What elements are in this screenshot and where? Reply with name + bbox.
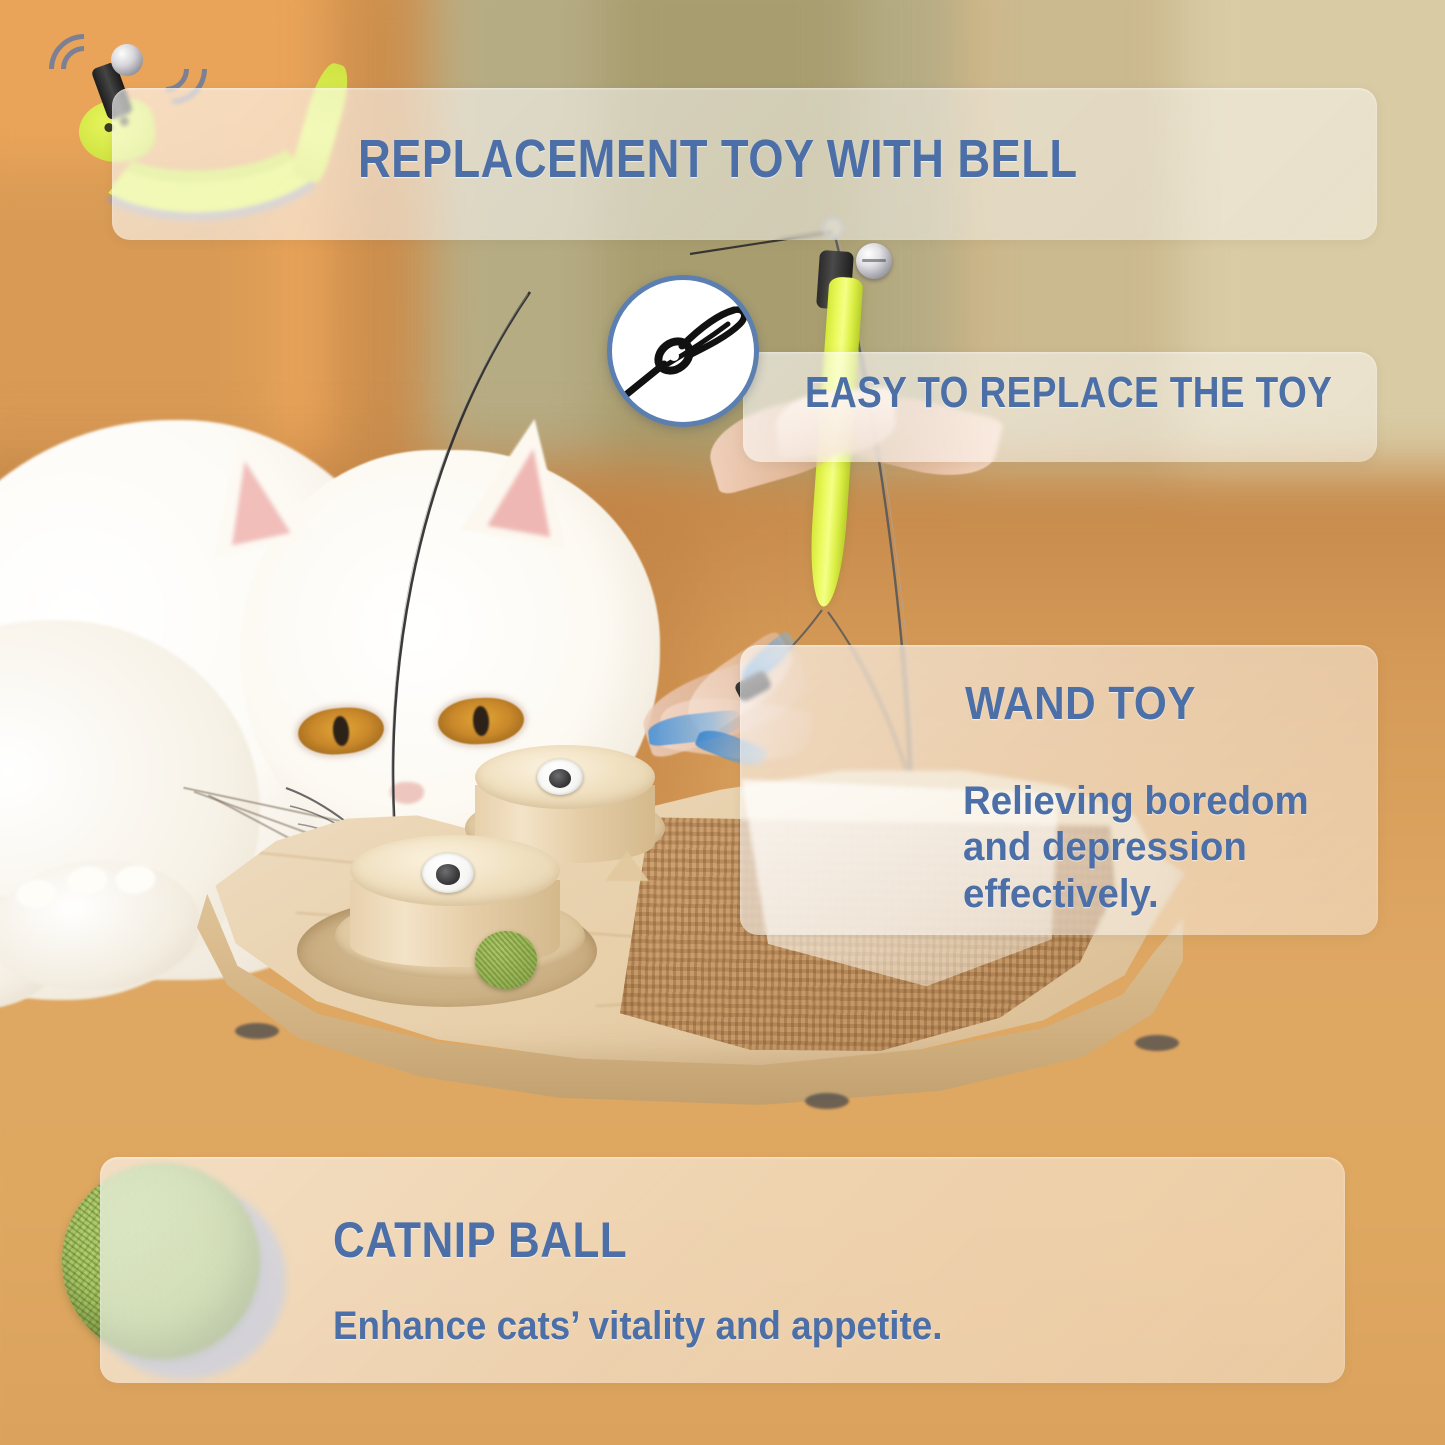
panel-catnip-ball (100, 1157, 1345, 1383)
cat-pupil-right (472, 706, 490, 737)
catnip-ball-in-track (475, 931, 537, 989)
bell (856, 243, 892, 279)
body-wand-toy: Relieving boredom and depression effecti… (963, 778, 1347, 917)
rubber-foot (1135, 1035, 1179, 1051)
bell (111, 44, 143, 76)
googly-eye (537, 759, 583, 795)
clip-icon (612, 280, 754, 422)
wood-wedge (605, 851, 649, 881)
cat-toe (15, 878, 58, 910)
rubber-foot (235, 1023, 279, 1039)
googly-eye (422, 853, 474, 893)
headline-wand-toy: WAND TOY (965, 676, 1196, 730)
rubber-foot (805, 1093, 849, 1109)
headline-replacement-toy: REPLACEMENT TOY WITH BELL (358, 128, 1077, 190)
cat-toe (66, 865, 109, 897)
body-catnip-ball: Enhance cats’ vitality and appetite. (333, 1304, 942, 1349)
clip-closeup-inset (607, 275, 759, 427)
cat-toe (114, 864, 157, 896)
headline-catnip-ball: CATNIP BALL (333, 1211, 627, 1269)
infographic-canvas: REPLACEMENT TOY WITH BELL EASY TO REPLAC… (0, 0, 1445, 1445)
cat-pupil-left (332, 715, 351, 746)
headline-easy-replace: EASY TO REPLACE THE TOY (805, 368, 1332, 418)
